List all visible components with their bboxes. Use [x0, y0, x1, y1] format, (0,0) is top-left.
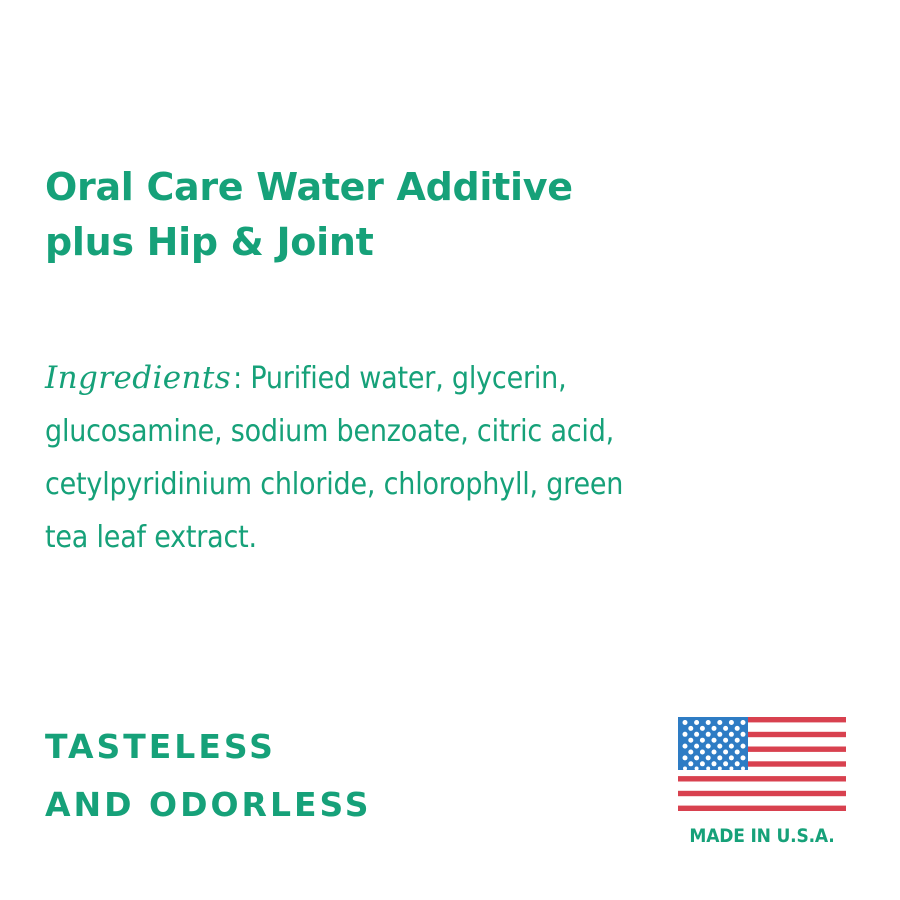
product-claims: TASTELESS AND ODORLESS [45, 718, 372, 834]
page-title-line-2: plus Hip & Joint [45, 215, 685, 270]
ingredients-label: Ingredients [45, 360, 233, 396]
ingredients-line-2: glucosamine, sodium benzoate, citric aci… [45, 405, 835, 458]
claim-line-odorless: AND ODORLESS [45, 776, 372, 834]
ingredients-line-1-text: Purified water, glycerin, [250, 361, 566, 396]
usa-flag-icon [678, 717, 846, 813]
page-title: Oral Care Water Additive plus Hip & Join… [45, 160, 685, 270]
ingredients-separator: : [233, 361, 242, 396]
ingredients-line-1: Ingredients: Purified water, glycerin, [45, 352, 835, 405]
product-label-panel: Oral Care Water Additive plus Hip & Join… [0, 0, 900, 900]
ingredients-section: Ingredients: Purified water, glycerin, g… [45, 352, 835, 564]
claim-line-tasteless: TASTELESS [45, 718, 372, 776]
made-in-usa-caption: MADE IN U.S.A. [678, 825, 846, 847]
ingredients-line-3: cetylpyridinium chloride, chlorophyll, g… [45, 458, 835, 511]
page-title-line-1: Oral Care Water Additive [45, 160, 685, 215]
made-in-usa-badge: MADE IN U.S.A. [678, 717, 846, 847]
ingredients-line-4: tea leaf extract. [45, 511, 835, 564]
ingredients-text: Ingredients: Purified water, glycerin, g… [45, 352, 835, 564]
